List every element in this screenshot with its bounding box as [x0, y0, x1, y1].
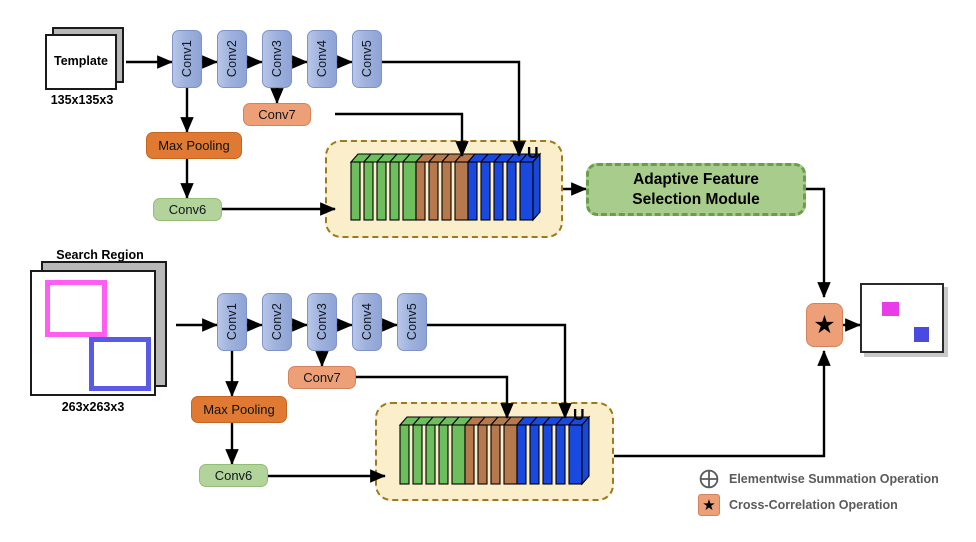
- conv-block-search-conv4[interactable]: Conv4: [352, 293, 382, 351]
- conv6-block-template[interactable]: Conv6: [153, 198, 222, 221]
- legend-item-cross-correlation: ★ Cross-Correlation Operation: [698, 494, 898, 516]
- template-image-label: Template: [45, 54, 117, 68]
- template-u-label: U: [527, 145, 539, 163]
- conv-label: Conv4: [360, 303, 374, 340]
- conv-label: Conv1: [225, 303, 239, 340]
- star-icon: ★: [698, 494, 720, 516]
- legend-label-cross-correlation: Cross-Correlation Operation: [729, 498, 898, 512]
- conv-label: Conv1: [180, 40, 194, 77]
- conv-block-search-conv2[interactable]: Conv2: [262, 293, 292, 351]
- afsm-line-1: Adaptive Feature: [633, 170, 759, 189]
- conv-label: Conv2: [225, 40, 239, 77]
- result-magenta-box: [882, 302, 899, 316]
- legend: Elementwise Summation Operation ★ Cross-…: [698, 468, 968, 520]
- result-blue-box: [914, 327, 929, 342]
- conv-block-template-conv5[interactable]: Conv5: [352, 30, 382, 88]
- conv-block-search-conv1[interactable]: Conv1: [217, 293, 247, 351]
- conv-block-template-conv3[interactable]: Conv3: [262, 30, 292, 88]
- conv-block-template-conv2[interactable]: Conv2: [217, 30, 247, 88]
- search-u-label: U: [573, 407, 585, 425]
- template-feature-cube: [333, 148, 557, 232]
- search-magenta-box: [45, 280, 107, 337]
- search-region-caption: Search Region: [30, 248, 170, 262]
- circle-plus-icon: [698, 468, 720, 490]
- conv-block-search-conv3[interactable]: Conv3: [307, 293, 337, 351]
- conv7-block-template[interactable]: Conv7: [243, 103, 311, 126]
- legend-item-summation: Elementwise Summation Operation: [698, 468, 939, 490]
- legend-label-summation: Elementwise Summation Operation: [729, 472, 939, 486]
- conv-label: Conv3: [270, 40, 284, 77]
- max-pooling-block-template[interactable]: Max Pooling: [146, 132, 242, 159]
- search-dimensions: 263x263x3: [38, 400, 148, 414]
- template-dimensions: 135x135x3: [37, 93, 127, 107]
- conv-block-search-conv5[interactable]: Conv5: [397, 293, 427, 351]
- conv-block-template-conv4[interactable]: Conv4: [307, 30, 337, 88]
- star-icon: ★: [813, 313, 835, 338]
- architecture-diagram: Template 135x135x3 Conv1 Conv2 Conv3 Con…: [0, 0, 976, 542]
- result-panel: [860, 283, 944, 353]
- conv-label: Conv4: [315, 40, 329, 77]
- conv-label: Conv3: [315, 303, 329, 340]
- conv-block-template-conv1[interactable]: Conv1: [172, 30, 202, 88]
- max-pooling-block-search[interactable]: Max Pooling: [191, 396, 287, 423]
- conv-label: Conv2: [270, 303, 284, 340]
- conv7-block-search[interactable]: Conv7: [288, 366, 356, 389]
- adaptive-feature-selection-module[interactable]: Adaptive Feature Selection Module: [586, 163, 806, 216]
- afsm-line-2: Selection Module: [632, 190, 759, 209]
- cross-correlation-operator[interactable]: ★: [806, 303, 843, 347]
- conv6-block-search[interactable]: Conv6: [199, 464, 268, 487]
- conv-label: Conv5: [405, 303, 419, 340]
- search-blue-box: [89, 337, 151, 391]
- conv-label: Conv5: [360, 40, 374, 77]
